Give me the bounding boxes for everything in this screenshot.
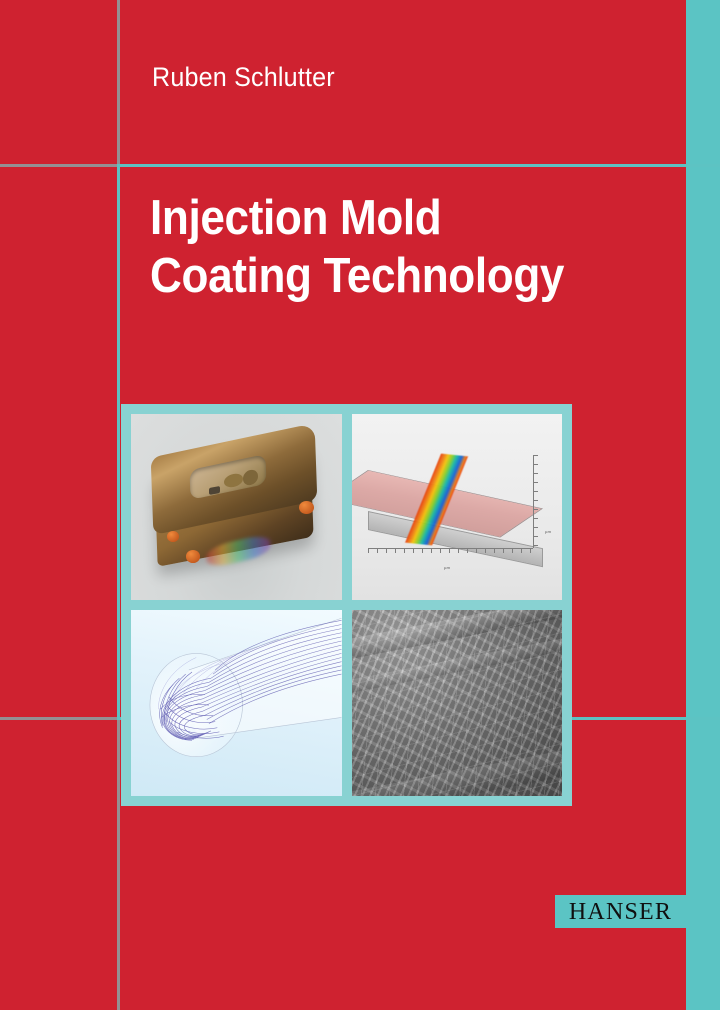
topography-z-axis-ticks	[533, 455, 538, 548]
cover-image-mosaic: µm µm	[121, 404, 572, 806]
mosaic-tile-3d-surface-topography-plot: µm µm	[352, 414, 563, 600]
sem-fiber-texture	[352, 610, 563, 796]
flow-streamline-plot	[131, 610, 342, 796]
topography-z-axis-label: µm	[545, 529, 551, 534]
author-name: Ruben Schlutter	[152, 62, 335, 93]
publisher-name: HANSER	[569, 900, 672, 924]
mold-ejector-pin-3	[186, 550, 201, 563]
title-line-2: Coating Technology	[150, 248, 564, 306]
mosaic-tile-coated-mold-insert-photo	[131, 414, 342, 600]
page-title: Injection Mold Coating Technology	[150, 190, 564, 306]
grid-line-horizontal-top-teal	[117, 164, 720, 167]
topography-x-axis-label: µm	[444, 565, 450, 570]
mosaic-tile-sem-micrograph	[352, 610, 563, 796]
grid-line-vertical-teal	[117, 164, 120, 720]
publisher-logo: HANSER	[555, 895, 686, 928]
title-line-1: Injection Mold	[150, 190, 564, 248]
topography-x-axis-ticks	[368, 548, 532, 553]
spine-strip	[686, 0, 720, 1010]
mosaic-tile-fiber-flow-simulation	[131, 610, 342, 796]
book-cover: Ruben Schlutter Injection Mold Coating T…	[0, 0, 720, 1010]
